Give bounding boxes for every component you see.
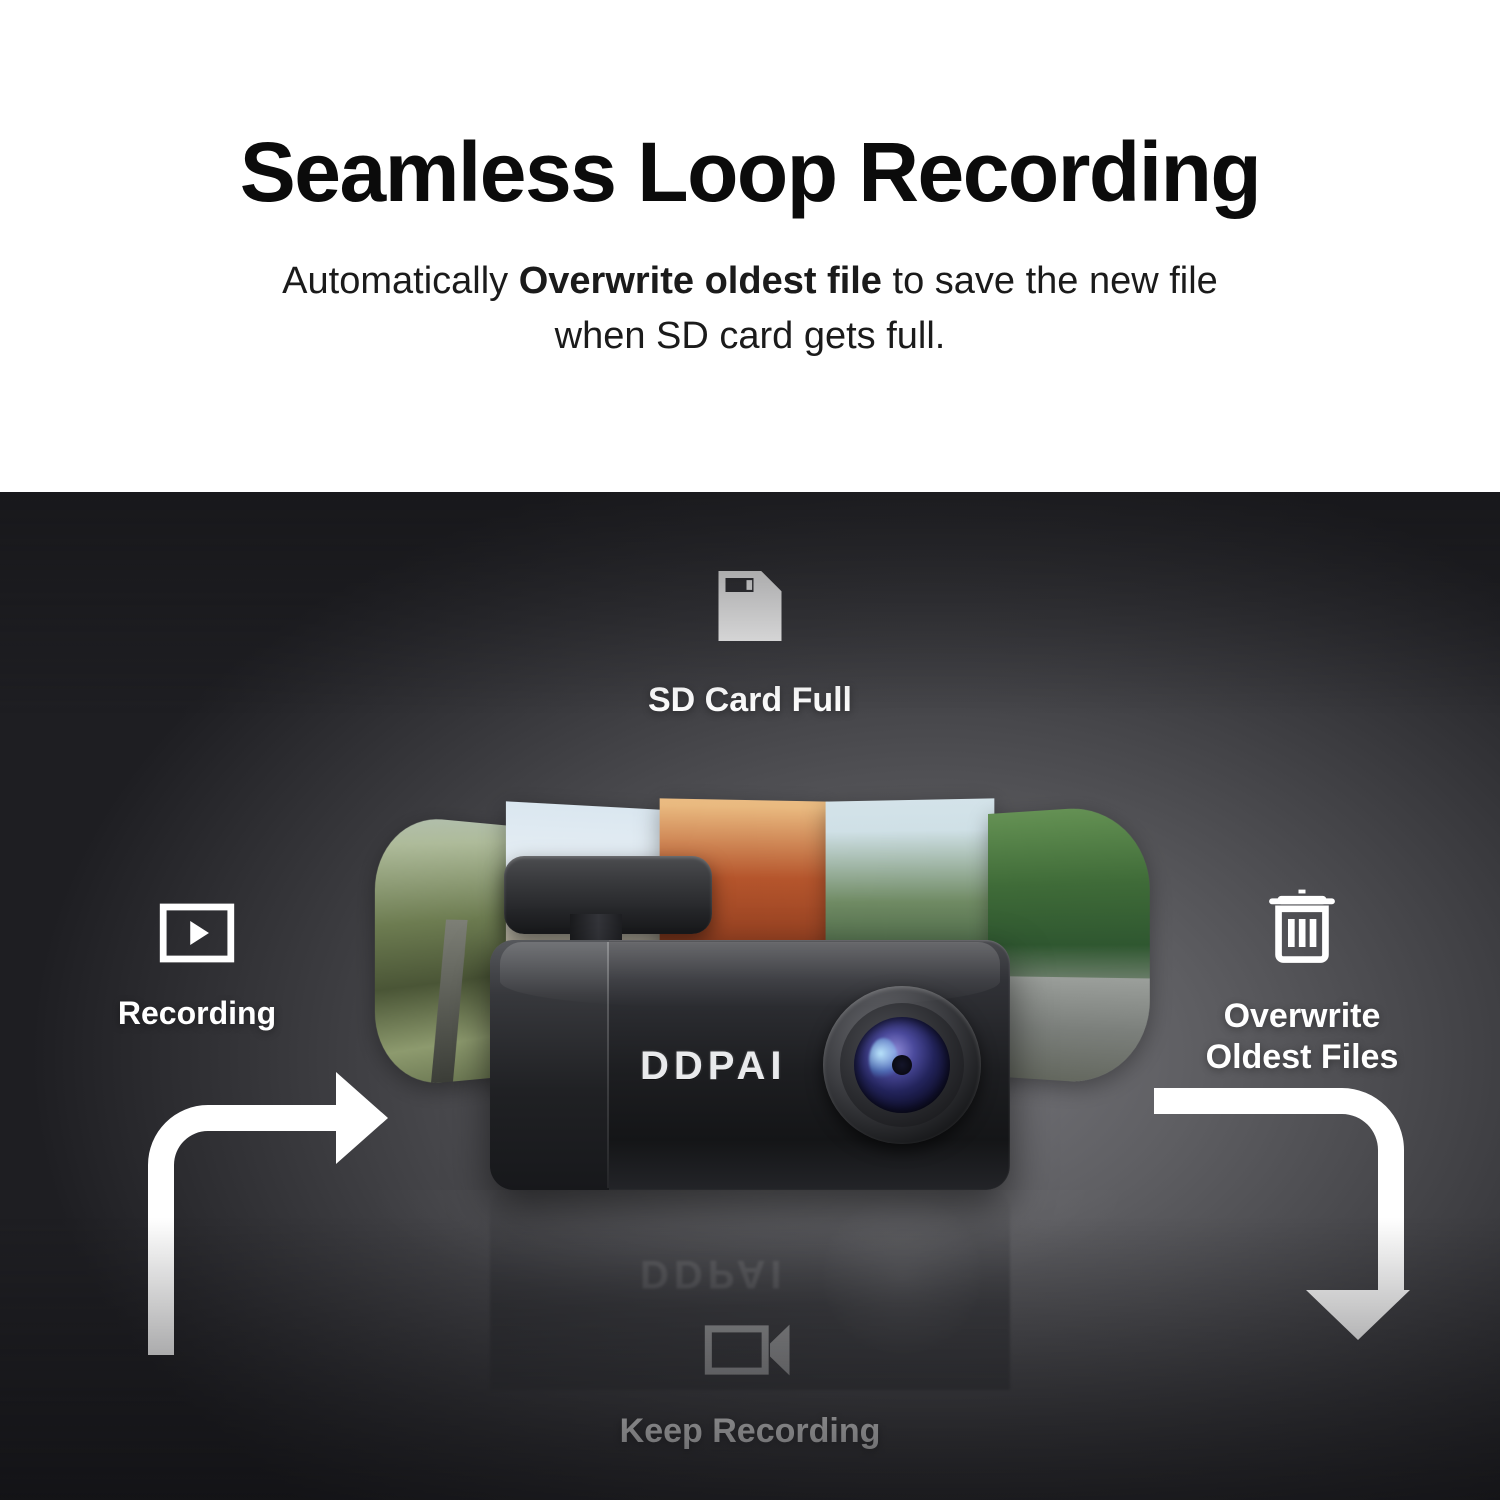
- header-section: Seamless Loop Recording Automatically Ov…: [0, 0, 1500, 492]
- camera-body: DDPAI: [490, 940, 1010, 1190]
- dash-camera: DDPAI: [490, 940, 1010, 1190]
- reflection-brand-logo: DDPAI: [640, 1251, 786, 1296]
- cycle-node-sd-card-full: SD Card Full: [0, 564, 1500, 721]
- photo-forest: [988, 804, 1150, 1087]
- subtitle-emphasis: Overwrite oldest file: [519, 260, 882, 302]
- cycle-label-keep-recording: Keep Recording: [620, 1411, 881, 1452]
- play-frame-icon: [158, 900, 236, 966]
- loop-diagram-panel: SD Card Full Recording OverwriteOldest F…: [0, 492, 1500, 1500]
- camera-end-cap: [490, 940, 609, 1190]
- overwrite-line-1: Overwrite: [1224, 997, 1381, 1035]
- cycle-label-recording: Recording: [118, 994, 276, 1033]
- overwrite-line-2: Oldest Files: [1206, 1038, 1399, 1076]
- infographic-page: Seamless Loop Recording Automatically Ov…: [0, 0, 1500, 1500]
- brand-logo: DDPAI: [640, 1044, 786, 1089]
- lens-pupil: [892, 1055, 912, 1075]
- floppy-disk-icon: [708, 564, 792, 648]
- photo-forest-image: [988, 804, 1150, 1087]
- product-reflection: DDPAI: [490, 1190, 1010, 1390]
- page-title: Seamless Loop Recording: [240, 128, 1260, 216]
- cycle-node-recording: Recording: [52, 900, 342, 1033]
- cycle-label-overwrite: OverwriteOldest Files: [1206, 996, 1399, 1079]
- camera-body-seam: [607, 942, 609, 1188]
- camera-lens: [823, 986, 981, 1144]
- page-subtitle: Automatically Overwrite oldest file to s…: [250, 254, 1250, 364]
- subtitle-text-before: Automatically: [282, 260, 519, 302]
- cycle-label-sd-card-full: SD Card Full: [648, 680, 852, 721]
- reflection-lens: [823, 1196, 981, 1354]
- product-stage: DDPAI DDPAI: [300, 792, 1200, 1352]
- trash-icon: [1260, 884, 1344, 968]
